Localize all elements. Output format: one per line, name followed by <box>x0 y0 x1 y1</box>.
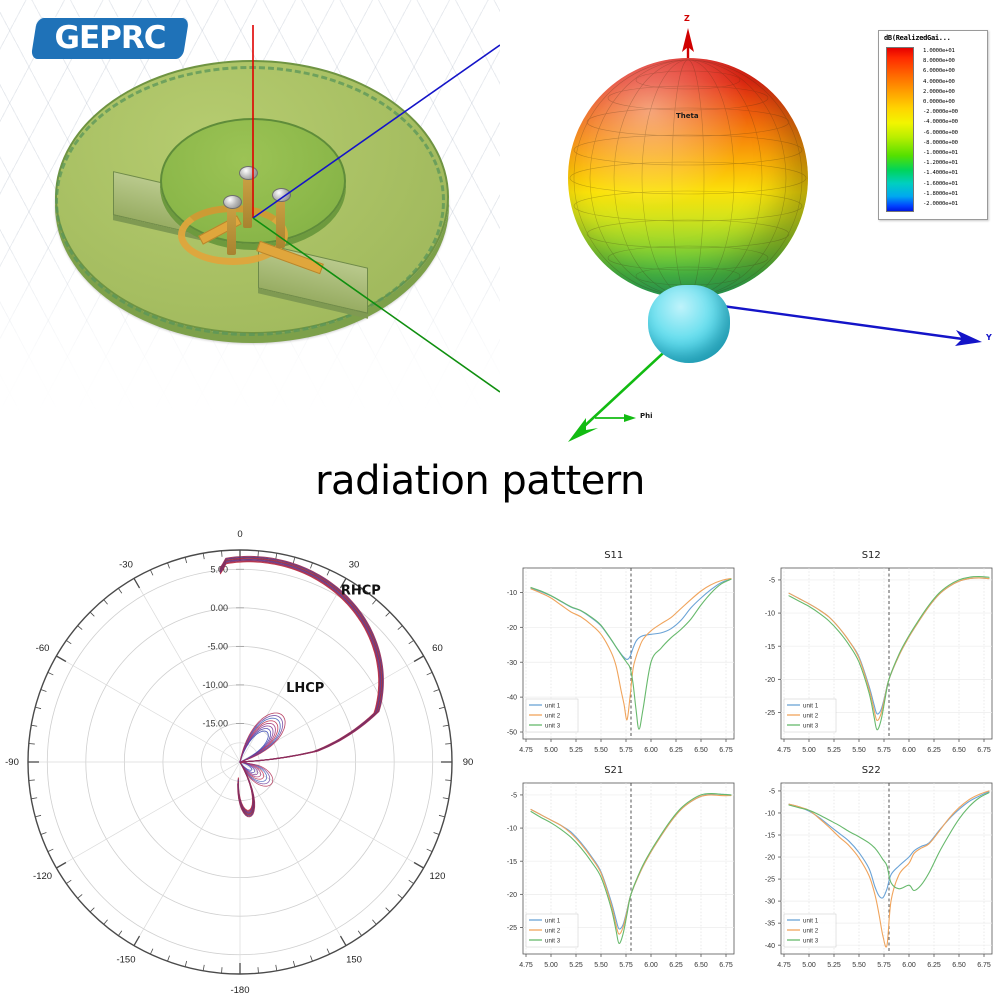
polar-plot-svg: 0306090120150-180-150-120-90-60-305.000.… <box>0 520 480 1000</box>
polar-tick <box>258 967 259 973</box>
axis-label-y: Y <box>986 333 992 342</box>
polar-tick <box>427 849 432 852</box>
polar-angle-label: -30 <box>119 560 133 571</box>
x-tick-label: 5.75 <box>877 747 891 754</box>
x-tick-label: 5.25 <box>827 747 841 754</box>
legend-label: unit 1 <box>803 703 819 710</box>
polar-tick <box>439 707 445 709</box>
polar-tick <box>427 672 432 675</box>
polar-tick <box>150 949 153 954</box>
polar-curve-label: RHCP <box>341 584 381 599</box>
polar-tick <box>118 931 121 936</box>
polar-tick <box>409 880 414 883</box>
gain-legend-value: -8.0000e+00 <box>923 140 958 146</box>
gain-legend-value: 0.0000e+00 <box>923 99 955 105</box>
x-tick-label: 5.00 <box>802 962 816 969</box>
polar-tick <box>443 725 449 726</box>
polar-tick <box>118 588 121 593</box>
polar-angle-label: -90 <box>5 757 19 768</box>
polar-tick <box>341 936 347 946</box>
s-parameter-plot-grid: S11 4.755.005.255.505.756.006.256.506.75… <box>485 548 1000 978</box>
polar-tick <box>398 894 403 898</box>
x-tick-label: 6.25 <box>927 747 941 754</box>
x-tick-label: 6.25 <box>669 962 683 969</box>
x-tick-label: 4.75 <box>519 747 533 754</box>
polar-tick <box>327 949 330 954</box>
x-tick-label: 5.75 <box>877 962 891 969</box>
polar-curve-label: LHCP <box>286 681 324 696</box>
x-tick-label: 6.50 <box>694 962 708 969</box>
polar-angle-label: 30 <box>349 560 360 571</box>
x-tick-label: 6.75 <box>719 962 733 969</box>
polar-tick <box>56 863 66 869</box>
x-tick-label: 6.00 <box>902 962 916 969</box>
polar-tick <box>327 570 330 575</box>
polar-tick <box>310 956 312 962</box>
y-tick-label: -15 <box>507 859 517 866</box>
polar-radial-label: -15.00 <box>202 718 228 728</box>
polar-radial-label: 0.00 <box>210 603 228 613</box>
x-tick-label: 5.50 <box>594 747 608 754</box>
legend-label: unit 2 <box>803 713 819 720</box>
polar-angle-label: -60 <box>36 643 50 654</box>
polar-tick <box>358 931 361 936</box>
x-tick-label: 4.75 <box>777 962 791 969</box>
polar-angle-label: -150 <box>116 954 135 965</box>
polar-tick <box>35 707 41 709</box>
gain-legend-value: 1.0000e+01 <box>923 48 955 54</box>
legend-label: unit 1 <box>803 918 819 925</box>
polar-tick <box>445 780 451 781</box>
polar-tick <box>276 553 277 559</box>
sphere-mesh-overlay <box>568 58 808 298</box>
gain-legend-value: -2.0000e+00 <box>923 109 958 115</box>
legend-label: unit 3 <box>545 723 561 730</box>
polar-tick <box>90 908 94 912</box>
s12-svg: 4.755.005.255.505.756.006.256.506.75-5-1… <box>743 560 1000 763</box>
polar-tick <box>276 965 277 971</box>
polar-tick <box>104 600 108 605</box>
polar-tick <box>414 656 424 662</box>
axis-label-z: Z <box>684 14 690 23</box>
y-tick-label: -30 <box>507 660 517 667</box>
cad-axes <box>0 0 500 420</box>
x-tick-label: 5.25 <box>569 747 583 754</box>
x-tick-label: 4.75 <box>519 962 533 969</box>
legend-label: unit 1 <box>545 918 561 925</box>
x-tick-label: 5.00 <box>544 962 558 969</box>
x-tick-label: 5.00 <box>544 747 558 754</box>
polar-angle-label: 60 <box>432 643 443 654</box>
polar-spoke <box>134 762 240 946</box>
gain-colorbar <box>886 47 914 212</box>
gain-legend-title: dB(RealizedGai... <box>884 34 951 42</box>
polar-tick <box>66 880 71 883</box>
gain-legend-value: -2.0000e+01 <box>923 201 958 207</box>
x-tick-label: 5.75 <box>619 962 633 969</box>
y-tick-label: -25 <box>764 710 774 717</box>
polar-tick <box>203 965 204 971</box>
polar-tick <box>48 672 53 675</box>
legend-label: unit 1 <box>545 703 561 710</box>
gain-legend-value: -1.6000e+01 <box>923 181 958 187</box>
polar-spoke <box>56 762 240 868</box>
y-tick-label: -35 <box>764 921 774 928</box>
polar-radial-label: -5.00 <box>207 641 228 651</box>
gain-colorbar-legend: dB(RealizedGai... 1.0000e+018.0000e+006.… <box>878 30 988 220</box>
y-tick-label: -15 <box>764 644 774 651</box>
y-tick-label: -20 <box>507 892 517 899</box>
x-tick-label: 6.75 <box>977 747 991 754</box>
polar-tick <box>398 626 403 630</box>
polar-tick <box>434 689 440 691</box>
polar-tick <box>78 894 83 898</box>
gain-legend-value: -1.4000e+01 <box>923 170 958 176</box>
polar-tick <box>104 920 108 925</box>
polar-tick <box>409 640 414 643</box>
polar-tick <box>372 600 376 605</box>
polar-angle-label: 90 <box>463 757 474 768</box>
y-tick-label: -5 <box>768 578 774 585</box>
s12-cell: S12 4.755.005.255.505.756.006.256.506.75… <box>743 548 1000 763</box>
y-tick-label: -40 <box>507 695 517 702</box>
y-tick-label: -25 <box>764 877 774 884</box>
polar-tick <box>48 849 53 852</box>
y-tick-label: -5 <box>768 789 774 796</box>
back-lobe-surface <box>648 285 730 363</box>
radiation-pattern-3d-view: Z Theta Y Phi dB(RealizedGai... 1.0000e+… <box>500 0 1000 455</box>
polar-tick <box>31 725 37 726</box>
polar-tick <box>90 612 94 616</box>
polar-tick <box>167 956 169 962</box>
polar-tick <box>258 551 259 557</box>
axis-label-phi: Phi <box>640 412 653 420</box>
polar-gain-plot: 0306090120150-180-150-120-90-60-305.000.… <box>0 520 480 1000</box>
polar-tick <box>185 961 187 967</box>
y-tick-label: -20 <box>764 855 774 862</box>
x-tick-label: 5.50 <box>594 962 608 969</box>
geprc-logo-text: GEPRC <box>34 17 186 59</box>
polar-angle-label: -120 <box>33 871 52 882</box>
x-tick-label: 6.75 <box>977 962 991 969</box>
y-tick-label: -30 <box>764 899 774 906</box>
y-tick-label: -15 <box>764 833 774 840</box>
y-tick-label: -40 <box>764 943 774 950</box>
polar-spoke <box>56 656 240 762</box>
polar-tick <box>386 612 390 616</box>
legend-label: unit 3 <box>545 938 561 945</box>
polar-tick <box>293 557 295 563</box>
polar-tick <box>434 832 440 834</box>
x-tick-label: 6.50 <box>952 962 966 969</box>
polar-spoke <box>240 762 424 868</box>
legend-label: unit 2 <box>545 928 561 935</box>
polar-tick <box>150 570 153 575</box>
x-tick-label: 4.75 <box>777 747 791 754</box>
polar-tick <box>41 689 47 691</box>
gain-legend-value: 4.0000e+00 <box>923 79 955 85</box>
gain-legend-value: -4.0000e+00 <box>923 119 958 125</box>
x-tick-label: 6.50 <box>952 747 966 754</box>
y-tick-label: -20 <box>507 625 517 632</box>
polar-tick <box>445 744 451 745</box>
x-tick-label: 6.75 <box>719 747 733 754</box>
y-tick-label: -10 <box>507 826 517 833</box>
section-title: radiation pattern <box>0 458 960 504</box>
gain-legend-value: -6.0000e+00 <box>923 130 958 136</box>
x-tick-label: 6.00 <box>644 962 658 969</box>
polar-tick <box>372 920 376 925</box>
gain-legend-value: -1.8000e+01 <box>923 191 958 197</box>
y-tick-label: -50 <box>507 730 517 737</box>
polar-tick <box>134 936 140 946</box>
y-tick-label: -10 <box>764 611 774 618</box>
s11-svg: 4.755.005.255.505.756.006.256.506.75-10-… <box>485 560 742 763</box>
legend-label: unit 2 <box>545 713 561 720</box>
gain-legend-value: 8.0000e+00 <box>923 58 955 64</box>
polar-tick <box>78 626 83 630</box>
polar-tick <box>222 967 223 973</box>
polar-tick <box>41 832 47 834</box>
polar-tick <box>31 798 37 799</box>
gain-legend-value: -1.2000e+01 <box>923 160 958 166</box>
polar-angle-label: 150 <box>346 954 362 965</box>
lhcp-trace <box>240 721 278 762</box>
x-tick-label: 5.00 <box>802 747 816 754</box>
polar-tick <box>310 563 312 569</box>
polar-tick <box>203 553 204 559</box>
x-tick-label: 6.00 <box>644 747 658 754</box>
polar-tick <box>185 557 187 563</box>
y-tick-label: -10 <box>764 811 774 818</box>
s11-cell: S11 4.755.005.255.505.756.006.256.506.75… <box>485 548 743 763</box>
x-tick-label: 5.25 <box>569 962 583 969</box>
polar-tick <box>29 780 35 781</box>
x-tick-label: 5.50 <box>852 962 866 969</box>
x-tick-label: 6.50 <box>694 747 708 754</box>
x-tick-label: 5.50 <box>852 747 866 754</box>
antenna-cad-view: GEPRC <box>0 0 500 420</box>
polar-tick <box>134 578 140 588</box>
polar-radial-label: -10.00 <box>202 680 228 690</box>
gain-legend-value: 6.0000e+00 <box>923 68 955 74</box>
y-tick-label: -10 <box>507 590 517 597</box>
axis-label-theta: Theta <box>676 112 699 120</box>
s22-cell: S22 4.755.005.255.505.756.006.256.506.75… <box>743 763 1000 978</box>
x-tick-label: 6.00 <box>902 747 916 754</box>
x-tick-label: 6.25 <box>669 747 683 754</box>
polar-angle-label: 0 <box>237 529 242 540</box>
polar-tick <box>29 744 35 745</box>
x-tick-label: 6.25 <box>927 962 941 969</box>
polar-tick <box>35 815 41 817</box>
lhcp-trace <box>240 718 280 762</box>
s22-svg: 4.755.005.255.505.756.006.256.506.75-5-1… <box>743 775 1000 978</box>
y-tick-label: -25 <box>507 925 517 932</box>
x-tick-label: 5.25 <box>827 962 841 969</box>
y-tick-label: -20 <box>764 677 774 684</box>
y-tick-label: -5 <box>511 793 517 800</box>
polar-tick <box>414 863 424 869</box>
polar-tick <box>66 640 71 643</box>
polar-tick <box>167 563 169 569</box>
polar-tick <box>386 908 390 912</box>
geprc-logo: GEPRC <box>31 17 190 59</box>
polar-angle-label: 120 <box>430 871 446 882</box>
legend-label: unit 3 <box>803 723 819 730</box>
gain-legend-value: -1.0000e+01 <box>923 150 958 156</box>
polar-tick <box>439 815 445 817</box>
polar-spoke <box>240 762 346 946</box>
s21-cell: S21 4.755.005.255.505.756.006.256.506.75… <box>485 763 743 978</box>
polar-tick <box>293 961 295 967</box>
gain-sphere-surface <box>568 58 808 298</box>
polar-tick <box>56 656 66 662</box>
legend-label: unit 3 <box>803 938 819 945</box>
polar-angle-label: -180 <box>230 985 249 996</box>
legend-label: unit 2 <box>803 928 819 935</box>
x-tick-label: 5.75 <box>619 747 633 754</box>
s21-svg: 4.755.005.255.505.756.006.256.506.75-5-1… <box>485 775 742 978</box>
gain-legend-value: 2.0000e+00 <box>923 89 955 95</box>
polar-tick <box>222 551 223 557</box>
polar-tick <box>443 798 449 799</box>
